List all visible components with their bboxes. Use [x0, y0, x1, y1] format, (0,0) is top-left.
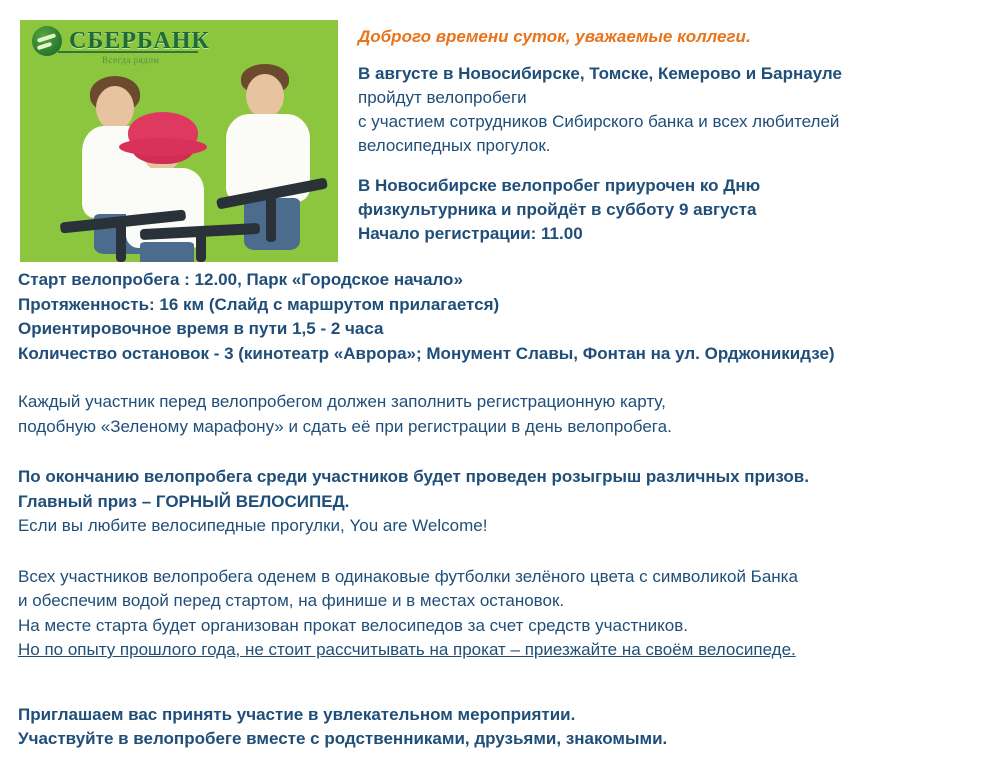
detail-duration: Ориентировочное время в пути 1,5 - 2 час… — [18, 317, 978, 342]
spacer-after-registration — [18, 457, 978, 465]
prizes-line-2: Главный приз – ГОРНЫЙ ВЕЛОСИПЕД. — [18, 490, 978, 515]
prizes-block: По окончанию велопробега среди участнико… — [18, 465, 978, 539]
registration-block: Каждый участник перед велопробегом долже… — [18, 390, 978, 439]
bicycle-stem-left — [116, 220, 126, 262]
intro-text-column: Доброго времени суток, уважаемые коллеги… — [358, 26, 978, 246]
invitation-line-2: Участвуйте в велопробеге вместе с родств… — [18, 727, 978, 752]
intro-p1-line-2: пройдут велопробеги — [358, 86, 978, 110]
spacer-before-invitation — [18, 681, 978, 703]
sberbank-tagline: Всегда рядом — [102, 55, 159, 65]
logistics-line-4-underlined: Но по опыту прошлого года, не стоит расс… — [18, 638, 978, 663]
promo-photo: СБЕРБАНК Всегда рядом — [20, 20, 338, 262]
spacer-after-prizes — [18, 557, 978, 565]
intro-p2-line-1: В Новосибирске велопробег приурочен ко Д… — [358, 174, 978, 198]
header-block: СБЕРБАНК Всегда рядом Доброго времени су… — [0, 0, 989, 266]
intro-p1-line-4: велосипедных прогулок. — [358, 134, 978, 158]
greeting-line: Доброго времени суток, уважаемые коллеги… — [358, 26, 978, 48]
intro-p2-line-2: физкультурника и пройдёт в субботу 9 авг… — [358, 198, 978, 222]
intro-p1-line-1: В августе в Новосибирске, Томске, Кемеро… — [358, 62, 978, 86]
prizes-line-1: По окончанию велопробега среди участнико… — [18, 465, 978, 490]
registration-line-2: подобную «Зеленому марафону» и сдать её … — [18, 415, 978, 440]
sberbank-wordmark: СБЕРБАНК — [69, 29, 210, 53]
bicycle-stem-right — [266, 196, 276, 242]
detail-distance: Протяженность: 16 км (Слайд с маршрутом … — [18, 293, 978, 318]
logistics-block: Всех участников велопробега оденем в оди… — [18, 565, 978, 663]
prizes-line-3: Если вы любите велосипедные прогулки, Yo… — [18, 514, 978, 539]
intro-paragraph-novosibirsk: В Новосибирске велопробег приурочен ко Д… — [358, 174, 978, 246]
body-text-column: Старт велопробега : 12.00, Парк «Городск… — [18, 268, 978, 770]
child-legs-shape — [140, 242, 194, 262]
bicycle-stem-middle — [196, 230, 206, 262]
detail-stops: Количество остановок - 3 (кинотеатр «Авр… — [18, 342, 978, 367]
logistics-line-3: На месте старта будет организован прокат… — [18, 614, 978, 639]
intro-p2-line-3: Начало регистрации: 11.00 — [358, 222, 978, 246]
invitation-block: Приглашаем вас принять участие в увлекат… — [18, 703, 978, 752]
child-pink-hat-shape — [128, 112, 198, 154]
registration-line-1: Каждый участник перед велопробегом долже… — [18, 390, 978, 415]
spacer-after-details — [18, 382, 978, 390]
sberbank-logo-underline — [58, 51, 198, 53]
father-head-shape — [246, 74, 284, 118]
intro-p1-line-3: с участием сотрудников Сибирского банка … — [358, 110, 978, 134]
logistics-line-1: Всех участников велопробега оденем в оди… — [18, 565, 978, 590]
logistics-line-2: и обеспечим водой перед стартом, на фини… — [18, 589, 978, 614]
event-details-block: Старт велопробега : 12.00, Парк «Городск… — [18, 268, 978, 366]
detail-start: Старт велопробега : 12.00, Парк «Городск… — [18, 268, 978, 293]
invitation-line-1: Приглашаем вас принять участие в увлекат… — [18, 703, 978, 728]
intro-paragraph-cities: В августе в Новосибирске, Томске, Кемеро… — [358, 62, 978, 158]
